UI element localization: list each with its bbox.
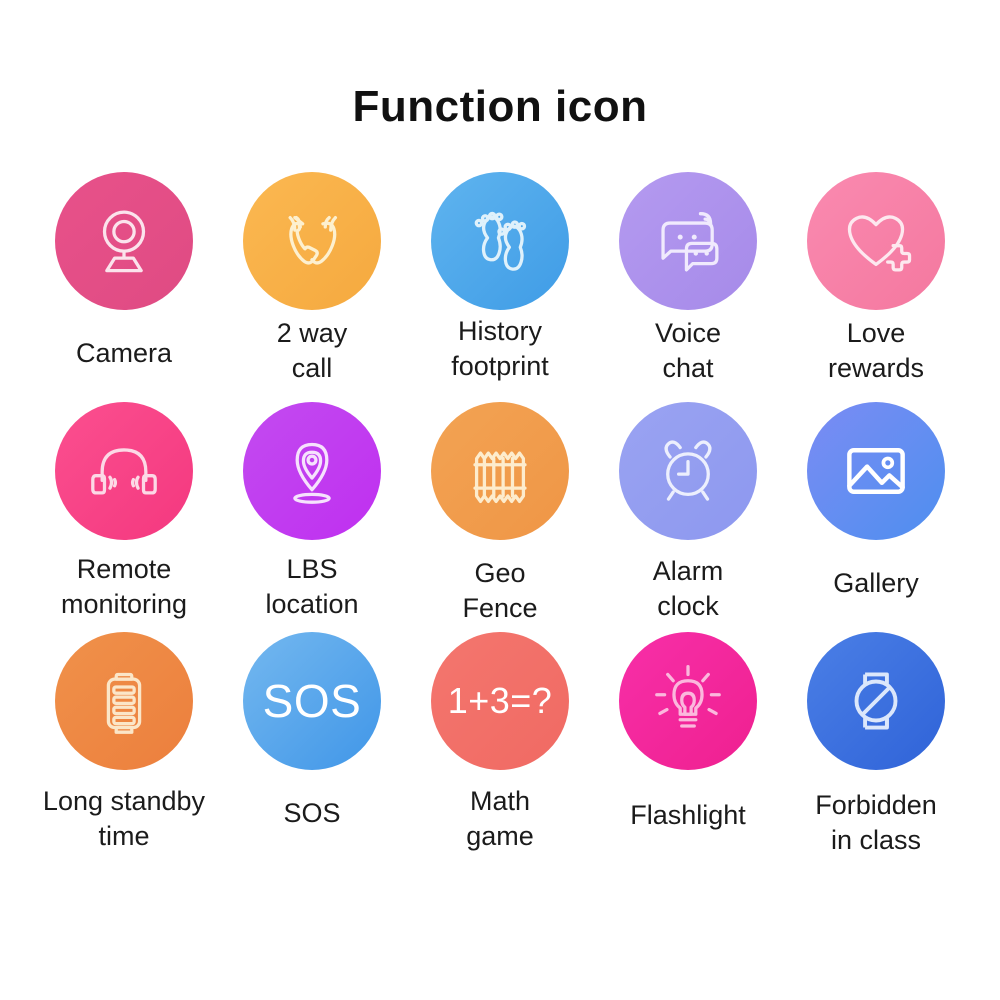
function-item-label: Mathgame [466, 784, 534, 853]
function-item-label: Alarmclock [653, 554, 724, 623]
function-item-label: Flashlight [630, 798, 746, 833]
sos-text-icon[interactable]: SOS [243, 632, 381, 770]
function-item[interactable]: 1+3=?Mathgame [406, 632, 594, 862]
function-item-label: Remotemonitoring [61, 552, 187, 621]
function-item[interactable]: Alarmclock [594, 402, 782, 632]
function-item[interactable]: SOSSOS [218, 632, 406, 862]
alarm-clock-icon[interactable] [619, 402, 757, 540]
function-item[interactable]: Loverewards [782, 172, 970, 402]
function-item-label: Gallery [833, 566, 919, 601]
function-item-label: Camera [76, 336, 172, 371]
function-item[interactable]: GeoFence [406, 402, 594, 632]
badge-text: 1+3=? [448, 680, 553, 722]
footprint-icon[interactable] [431, 172, 569, 310]
function-item[interactable]: Historyfootprint [406, 172, 594, 402]
gallery-image-icon[interactable] [807, 402, 945, 540]
camera-icon[interactable] [55, 172, 193, 310]
no-watch-icon[interactable] [807, 632, 945, 770]
function-item-label: GeoFence [462, 556, 537, 625]
function-item[interactable]: Forbiddenin class [782, 632, 970, 862]
function-item[interactable]: LBSlocation [218, 402, 406, 632]
math-equation-icon[interactable]: 1+3=? [431, 632, 569, 770]
function-item[interactable]: Remotemonitoring [30, 402, 218, 632]
function-item[interactable]: 2 waycall [218, 172, 406, 402]
function-item-label: Long standbytime [43, 784, 205, 853]
function-item[interactable]: Voicechat [594, 172, 782, 402]
function-item[interactable]: Flashlight [594, 632, 782, 862]
heart-plus-icon[interactable] [807, 172, 945, 310]
function-item[interactable]: Camera [30, 172, 218, 402]
lightbulb-icon[interactable] [619, 632, 757, 770]
function-item-label: 2 waycall [277, 316, 348, 385]
function-item-label: Forbiddenin class [815, 788, 937, 857]
location-pin-icon[interactable] [243, 402, 381, 540]
function-item-label: Voicechat [655, 316, 721, 385]
fence-icon[interactable] [431, 402, 569, 540]
headphones-icon[interactable] [55, 402, 193, 540]
voice-chat-icon[interactable] [619, 172, 757, 310]
function-item[interactable]: Gallery [782, 402, 970, 632]
page-title: Function icon [0, 0, 1000, 132]
function-item-label: Historyfootprint [451, 314, 549, 383]
two-way-call-icon[interactable] [243, 172, 381, 310]
badge-text: SOS [263, 674, 362, 728]
battery-icon[interactable] [55, 632, 193, 770]
function-item-label: Loverewards [828, 316, 924, 385]
function-item-label: SOS [283, 796, 340, 831]
function-item-label: LBSlocation [265, 552, 358, 621]
function-item[interactable]: Long standbytime [30, 632, 218, 862]
function-icon-grid: Camera2 waycallHistoryfootprintVoicechat… [0, 172, 1000, 862]
